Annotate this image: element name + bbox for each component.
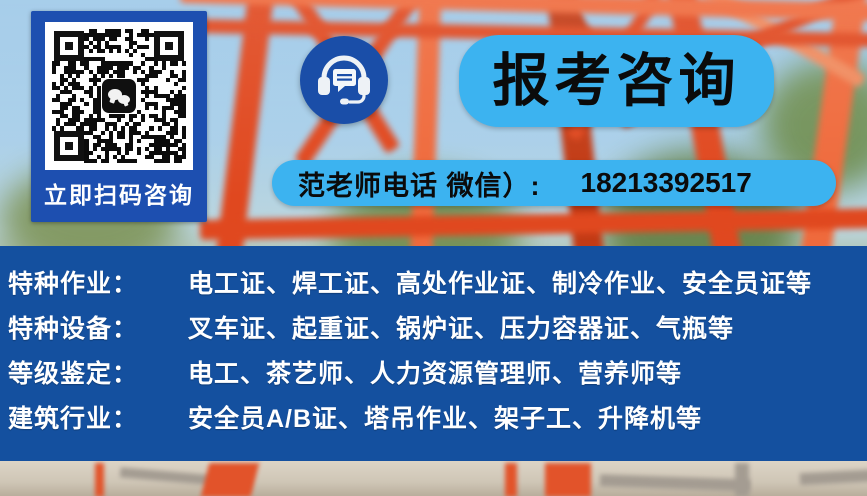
info-category: 建筑行业： [8,399,176,435]
strip-beam [95,463,104,496]
qr-finder-icon [54,31,84,61]
qr-code-card[interactable]: 立即扫码咨询 [31,11,207,222]
info-category: 特种设备： [8,309,176,345]
info-row: 特种设备： 叉车证、起重证、锅炉证、压力容器证、气瓶等 [0,309,867,354]
strip-beam [201,463,259,496]
phone-number[interactable]: 18213392517 [581,167,752,199]
qr-code-icon[interactable] [45,22,193,170]
strip-beam [735,463,749,496]
phone-pill[interactable]: 范老师电话 微信）: 18213392517 [272,160,836,206]
info-band: 特种作业： 电工证、焊工证、高处作业证、制冷作业、安全员证等 特种设备： 叉车证… [0,246,867,461]
phone-label: 范老师电话 微信）: [298,164,541,203]
info-category: 特种作业： [8,264,176,300]
info-row: 等级鉴定： 电工、茶艺师、人力资源管理师、营养师等 [0,354,867,399]
qr-caption: 立即扫码咨询 [35,176,203,210]
wechat-icon [102,79,136,113]
title-pill[interactable]: 报考咨询 [459,35,774,127]
title-text: 报考咨询 [493,53,741,110]
qr-finder-icon [154,31,184,61]
strip-beam [545,463,591,496]
info-items: 安全员A/B证、塔吊作业、架子工、升降机等 [176,399,702,435]
strip-beam [505,463,517,496]
info-row: 建筑行业： 安全员A/B证、塔吊作业、架子工、升降机等 [0,399,867,444]
strip-beam [600,474,750,491]
qr-finder-icon [54,131,84,161]
bottom-photo-strip [0,461,867,496]
info-row: 特种作业： 电工证、焊工证、高处作业证、制冷作业、安全员证等 [0,264,867,309]
strip-beam [800,469,867,486]
info-category: 等级鉴定： [8,354,176,390]
info-items: 叉车证、起重证、锅炉证、压力容器证、气瓶等 [176,309,734,345]
info-items: 电工、茶艺师、人力资源管理师、营养师等 [176,354,682,390]
promo-poster: 立即扫码咨询 报考咨询 范老师电话 微信）: 18213392517 特种作业：… [0,0,867,496]
headset-support-icon [300,36,388,124]
info-items: 电工证、焊工证、高处作业证、制冷作业、安全员证等 [176,264,812,300]
